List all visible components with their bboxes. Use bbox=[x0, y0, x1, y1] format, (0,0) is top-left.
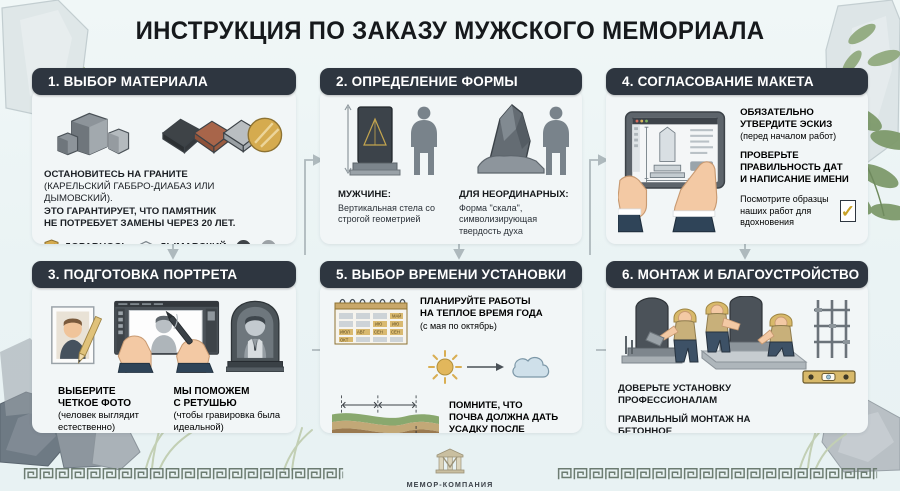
badge-dymovsky-label: ДЫМАВСКИЙ bbox=[159, 242, 226, 244]
portrait-l1-note: (человек выглядит естественно) bbox=[58, 409, 139, 432]
panel-portrait-header: 3. ПОДГОТОВКА ПОРТРЕТА bbox=[32, 261, 296, 288]
panel-portrait: 3. ПОДГОТОВКА ПОРТРЕТА bbox=[32, 261, 296, 433]
approval-row: ОБЯЗАТЕЛЬНО УТВЕРДИТЕ ЭСКИЗ (перед начал… bbox=[618, 103, 856, 235]
human-silhouette bbox=[543, 107, 569, 175]
panel-installation-header: 6. МОНТАЖ И БЛАГОУСТРОЙСТВО bbox=[606, 261, 868, 288]
approval-b1-l1: ОБЯЗАТЕЛЬНО bbox=[740, 107, 856, 119]
human-silhouette bbox=[411, 107, 437, 175]
panel-material-header: 1. ВЫБОР МАТЕРИАЛА bbox=[32, 68, 296, 95]
timing-b1-l2: НА ТЕПЛОЕ ВРЕМЯ ГОДА bbox=[420, 308, 543, 320]
svg-text:СЕН: СЕН bbox=[374, 330, 383, 335]
calendar-icon: МАЙ ИЮИЮ ИЮЛАВГ СЕНСЕН ОКТ bbox=[332, 296, 410, 346]
form-label-man: МУЖЧИНЕ: Вертикальная стела со строгой г… bbox=[338, 189, 449, 237]
material-line-3: ЭТО ГАРАНТИРУЕТ, ЧТО ПАМЯТНИК bbox=[44, 206, 284, 218]
panel-timing-body: МАЙ ИЮИЮ ИЮЛАВГ СЕНСЕН ОКТ ПЛАНИРУЙТЕ РА… bbox=[320, 282, 582, 433]
svg-text:АВГ: АВГ bbox=[357, 330, 366, 335]
material-copy: ОСТАНОВИТЕСЬ НА ГРАНИТЕ (КАРЕЛЬСКИЙ ГАББ… bbox=[44, 169, 284, 230]
timing-b1-note: (с мая по октябрь) bbox=[420, 321, 497, 331]
material-line-4: НЕ ПОТРЕБУЕТ ЗАМЕНЫ ЧЕРЕЗ 20 ЛЕТ. bbox=[44, 218, 284, 230]
shield-check-icon bbox=[44, 239, 59, 244]
installation-art bbox=[618, 296, 856, 372]
brand-name: МЕМОР-КОМПАНИЯ bbox=[365, 480, 535, 489]
portrait-art bbox=[44, 296, 284, 376]
panel-installation: 6. МОНТАЖ И БЛАГОУСТРОЙСТВО bbox=[606, 261, 868, 433]
approval-b1-l2: УТВЕРДИТЕ ЭСКИЗ bbox=[740, 119, 856, 131]
badge-durability: ДОРАВНОСҺ bbox=[44, 239, 128, 244]
greek-meander-left bbox=[0, 467, 366, 481]
inspiration-checkbox[interactable]: ✓ bbox=[840, 200, 856, 222]
approval-b2-l1: ПРОВЕРЬТЕ bbox=[740, 150, 856, 162]
portrait-l2-note: (чтобы гравировка была идеальной) bbox=[174, 409, 281, 432]
retouch-screen-icon bbox=[111, 296, 222, 376]
portrait-label-1: ВЫБЕРИТЕ ЧЕТКОЕ ФОТО (человек выглядит е… bbox=[58, 386, 156, 432]
approval-block-1: ОБЯЗАТЕЛЬНО УТВЕРДИТЕ ЭСКИЗ (перед начал… bbox=[740, 107, 856, 142]
svg-text:ИЮЛ: ИЮЛ bbox=[340, 330, 350, 335]
svg-text:СЕН: СЕН bbox=[391, 330, 400, 335]
timing-block-2: ПОМНИТЕ, ЧТО ПОЧВА ДОЛЖНА ДАТЬ УСАДКУ ПО… bbox=[449, 392, 570, 433]
portrait-l1-line2: ЧЕТКОЕ ФОТО bbox=[58, 398, 156, 410]
granite-samples-icon bbox=[159, 111, 284, 159]
svg-text:ИЮ: ИЮ bbox=[375, 322, 383, 327]
portrait-l2-line1: МЫ ПОМОЖЕМ bbox=[174, 386, 284, 398]
form-label-rock-text: Форма "скала", символизирующая твердость… bbox=[459, 203, 537, 236]
form-label-man-text: Вертикальная стела со строгой геометрией bbox=[338, 203, 435, 225]
panel-approval: 4. СОГЛАСОВАНИЕ МАКЕТА bbox=[606, 68, 868, 244]
badge-dymovsky: ДЫМАВСКИЙ bbox=[138, 240, 226, 244]
portrait-label-2: МЫ ПОМОЖЕМ С РЕТУШЬЮ (чтобы гравировка б… bbox=[174, 386, 284, 432]
panel-approval-body: ОБЯЗАТЕЛЬНО УТВЕРДИТЕ ЭСКИЗ (перед начал… bbox=[606, 89, 868, 244]
worker-digging-icon bbox=[622, 298, 698, 363]
approval-b3-note: Посмотрите образцы наших работ для вдохн… bbox=[740, 194, 834, 229]
installation-block-2: ПРАВИЛЬНЫЙ МОНТАЖ НА БЕТОННОЕ ОСНОВАНИЕ … bbox=[618, 414, 794, 433]
panel-form-header: 2. ОПРЕДЕЛЕНИЕ ФОРМЫ bbox=[320, 68, 582, 95]
granite-sample-dark bbox=[236, 240, 251, 244]
rock-shape-icon bbox=[460, 101, 570, 181]
svg-text:МАЙ: МАЙ bbox=[392, 314, 401, 319]
timing-b2-l2: ПОЧВА ДОЛЖНА ДАТЬ bbox=[449, 412, 570, 424]
panel-installation-body: ДОВЕРЬТЕ УСТАНОВКУ ПРОФЕССИОНАЛАМ ПРАВИЛ… bbox=[606, 282, 868, 433]
vertical-stele-icon bbox=[342, 101, 446, 181]
install-b1-l2: ПРОФЕССИОНАЛАМ bbox=[618, 395, 794, 407]
material-badges: ДОРАВНОСҺ ДЫМАВСКИЙ bbox=[44, 239, 284, 244]
workers-installing-icon bbox=[702, 296, 806, 369]
form-labels: МУЖЧИНЕ: Вертикальная стела со строгой г… bbox=[332, 189, 570, 237]
panel-form: 2. ОПРЕДЕЛЕНИЕ ФОРМЫ bbox=[320, 68, 582, 244]
approval-text: ОБЯЗАТЕЛЬНО УТВЕРДИТЕ ЭСКИЗ (перед начал… bbox=[740, 103, 856, 235]
layers-icon bbox=[138, 240, 154, 244]
installation-block-1: ДОВЕРЬТЕ УСТАНОВКУ ПРОФЕССИОНАЛАМ bbox=[618, 383, 794, 408]
portrait-l1-line1: ВЫБЕРИТЕ bbox=[58, 386, 156, 398]
approval-b2-l3: И НАПИСАНИЕ ИМЕНИ bbox=[740, 174, 856, 186]
form-label-man-title: МУЖЧИНЕ: bbox=[338, 189, 449, 201]
form-label-rock-title: ДЛЯ НЕОРДИНАРНЫХ: bbox=[459, 189, 570, 201]
brand-logo: МЕМОР-КОМПАНИЯ bbox=[365, 448, 535, 489]
panel-timing: 5. ВЫБОР ВРЕМЕНИ УСТАНОВКИ bbox=[320, 261, 582, 433]
form-art-row bbox=[332, 103, 570, 181]
granite-sample-light bbox=[261, 240, 276, 244]
weather-row bbox=[428, 350, 570, 384]
portrait-l2-line2: С РЕТУШЬЮ bbox=[174, 398, 284, 410]
installation-text: ДОВЕРЬТЕ УСТАНОВКУ ПРОФЕССИОНАЛАМ ПРАВИЛ… bbox=[618, 383, 794, 433]
material-line-2: (КАРЕЛЬСКИЙ ГАББРО-ДИАБАЗ ИЛИ ДЫМОВСКИЙ)… bbox=[44, 181, 284, 205]
approval-b2-l2: ПРАВИЛЬНОСТЬ ДАТ bbox=[740, 162, 856, 174]
form-art-rock bbox=[459, 103, 570, 181]
form-label-rock: ДЛЯ НЕОРДИНАРНЫХ: Форма "скала", символи… bbox=[459, 189, 570, 237]
timing-block-1: ПЛАНИРУЙТЕ РАБОТЫ НА ТЕПЛОЕ ВРЕМЯ ГОДА (… bbox=[420, 296, 543, 346]
timing-b2-l3: УСАДКУ ПОСЛЕ ПОХОРОН bbox=[449, 424, 570, 433]
svg-text:ИЮ: ИЮ bbox=[392, 322, 400, 327]
column-monument-logo bbox=[430, 448, 470, 474]
installation-text-row: ДОВЕРЬТЕ УСТАНОВКУ ПРОФЕССИОНАЛАМ ПРАВИЛ… bbox=[618, 383, 856, 433]
infographic-root: ИНСТРУКЦИЯ ПО ЗАКАЗУ МУЖСКОГО МЕМОРИАЛА … bbox=[0, 0, 900, 491]
cloud-icon bbox=[510, 353, 552, 381]
timing-b1-l1: ПЛАНИРУЙТЕ РАБОТЫ bbox=[420, 296, 543, 308]
badge-durability-label: ДОРАВНОСҺ bbox=[64, 242, 128, 244]
material-art bbox=[44, 103, 284, 159]
timing-bottom: ПОМНИТЕ, ЧТО ПОЧВА ДОЛЖНА ДАТЬ УСАДКУ ПО… bbox=[332, 392, 570, 433]
arrow-right-icon bbox=[467, 361, 505, 373]
install-b1-l1: ДОВЕРЬТЕ УСТАНОВКУ bbox=[618, 383, 794, 395]
panel-portrait-body: ВЫБЕРИТЕ ЧЕТКОЕ ФОТО (человек выглядит е… bbox=[32, 282, 296, 433]
panel-form-body: МУЖЧИНЕ: Вертикальная стела со строгой г… bbox=[320, 89, 582, 244]
panel-material-body: ОСТАНОВИТЕСЬ НА ГРАНИТЕ (КАРЕЛЬСКИЙ ГАББ… bbox=[32, 89, 296, 244]
sun-icon bbox=[428, 350, 462, 384]
install-b2-l1: ПРАВИЛЬНЫЙ МОНТАЖ НА БЕТОННОЕ bbox=[618, 414, 794, 433]
engraved-portrait-icon bbox=[226, 296, 284, 376]
granite-blocks-icon bbox=[56, 107, 131, 159]
timing-b2-l1: ПОМНИТЕ, ЧТО bbox=[449, 400, 570, 412]
panel-approval-header: 4. СОГЛАСОВАНИЕ МАКЕТА bbox=[606, 68, 868, 95]
svg-text:ОКТ: ОКТ bbox=[340, 337, 349, 342]
form-art-stele bbox=[338, 103, 449, 181]
soil-layers-icon bbox=[332, 392, 439, 433]
photo-frame-icon bbox=[50, 298, 107, 376]
spirit-level-icon bbox=[802, 369, 856, 385]
panel-material: 1. ВЫБОР МАТЕРИАЛА bbox=[32, 68, 296, 244]
footer: МЕМОР-КОМПАНИЯ bbox=[0, 449, 900, 491]
tablet-hands-icon bbox=[618, 103, 730, 235]
greek-meander-right bbox=[534, 467, 900, 481]
material-line-1: ОСТАНОВИТЕСЬ НА ГРАНИТЕ bbox=[44, 169, 284, 181]
approval-block-3: Посмотрите образцы наших работ для вдохн… bbox=[740, 194, 856, 229]
approval-block-2: ПРОВЕРЬТЕ ПРАВИЛЬНОСТЬ ДАТ И НАПИСАНИЕ И… bbox=[740, 150, 856, 185]
portrait-labels: ВЫБЕРИТЕ ЧЕТКОЕ ФОТО (человек выглядит е… bbox=[44, 386, 284, 432]
panel-timing-header: 5. ВЫБОР ВРЕМЕНИ УСТАНОВКИ bbox=[320, 261, 582, 288]
timing-top: МАЙ ИЮИЮ ИЮЛАВГ СЕНСЕН ОКТ ПЛАНИРУЙТЕ РА… bbox=[332, 296, 570, 346]
approval-b1-note: (перед началом работ) bbox=[740, 131, 836, 141]
